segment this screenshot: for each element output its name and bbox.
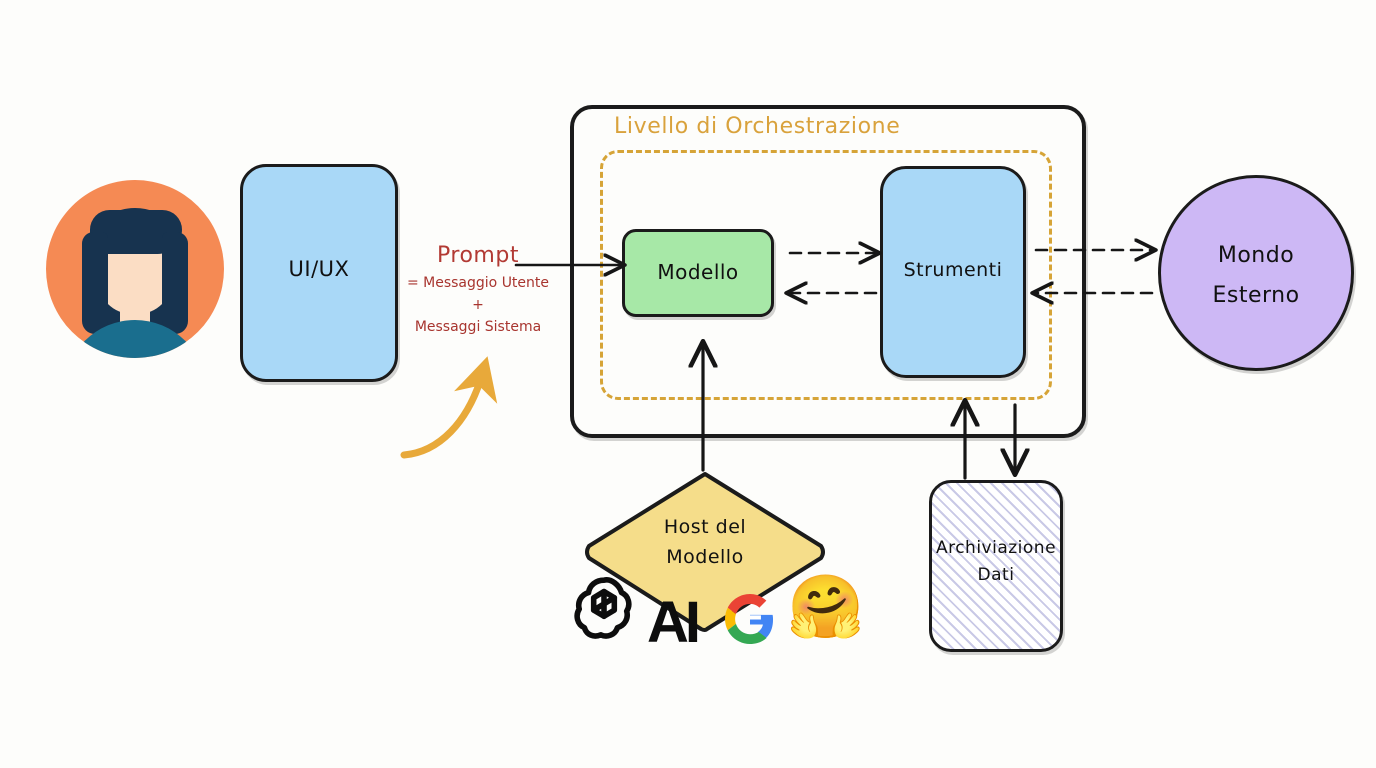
prompt-line-1: = Messaggio Utente: [383, 272, 573, 294]
node-strumenti-label: Strumenti: [883, 259, 1023, 281]
avatar-hair-right: [162, 232, 188, 334]
prompt-line-3: Messaggi Sistema: [383, 316, 573, 338]
edge-uiux-to-prompt-highlight: [404, 372, 483, 455]
node-archiviazione-label-1: Archiviazione: [932, 535, 1060, 562]
model-provider-logos: AI 🤗: [565, 572, 865, 650]
prompt-annotation: Prompt = Messaggio Utente + Messaggi Sis…: [383, 243, 573, 338]
prompt-line-2: +: [383, 294, 573, 316]
node-mondo-esterno-label-1: Mondo: [1161, 236, 1351, 276]
huggingface-logo-icon: 🤗: [787, 572, 857, 642]
node-archiviazione-label-2: Dati: [932, 562, 1060, 589]
user-avatar-icon: [46, 180, 224, 358]
node-modello-label: Modello: [625, 260, 771, 284]
node-uiux-label: UI/UX: [243, 257, 395, 281]
avatar-hair-left: [82, 232, 108, 334]
prompt-title: Prompt: [383, 243, 573, 268]
node-modello[interactable]: Modello: [622, 229, 774, 317]
node-strumenti[interactable]: Strumenti: [880, 166, 1026, 378]
orchestration-layer-label: Livello di Orchestrazione: [614, 114, 1034, 139]
node-mondo-esterno[interactable]: Mondo Esterno: [1158, 175, 1354, 371]
node-archiviazione-dati[interactable]: Archiviazione Dati: [929, 480, 1063, 652]
diagram-canvas: UI/UX Prompt = Messaggio Utente + Messag…: [0, 0, 1376, 768]
openai-logo-icon: [571, 574, 637, 640]
google-logo-icon: [725, 594, 775, 644]
node-mondo-esterno-label-2: Esterno: [1161, 276, 1351, 316]
meta-ai-logo-icon: AI: [647, 596, 719, 650]
node-uiux[interactable]: UI/UX: [240, 164, 398, 382]
